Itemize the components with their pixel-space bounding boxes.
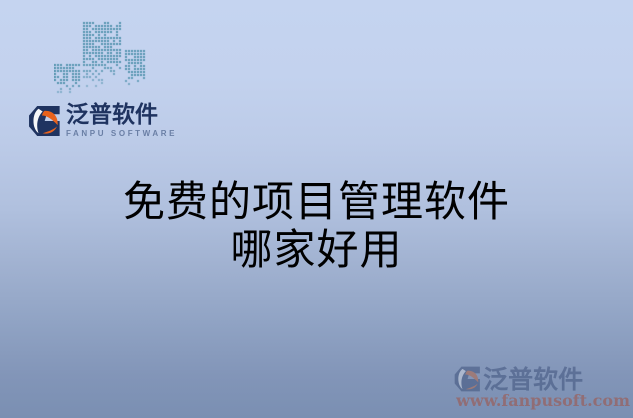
watermark-url: www.fanpusoft.com xyxy=(456,392,630,410)
brand-logo: 泛普软件 FANPU SOFTWARE xyxy=(27,103,177,139)
pixel-mosaic-city-skyline-icon xyxy=(54,20,146,98)
watermark-name-cn: 泛普软件 xyxy=(483,366,583,393)
page-title-line-2: 哪家好用 xyxy=(0,226,633,274)
brand-name-en: FANPU SOFTWARE xyxy=(66,129,177,139)
watermark-logo: 泛普软件 xyxy=(453,365,630,393)
watermark: 泛普软件 www.fanpusoft.com xyxy=(453,365,630,410)
fanpu-hexagon-swoosh-icon xyxy=(453,365,481,393)
fanpu-hexagon-swoosh-icon xyxy=(27,104,61,138)
page-title-line-1: 免费的项目管理软件 xyxy=(0,178,633,226)
brand-text: 泛普软件 FANPU SOFTWARE xyxy=(66,103,177,139)
page-title: 免费的项目管理软件 哪家好用 xyxy=(0,178,633,274)
brand-name-cn: 泛普软件 xyxy=(66,103,177,128)
slide-canvas: 泛普软件 FANPU SOFTWARE 免费的项目管理软件 哪家好用 泛普软件 … xyxy=(0,0,633,418)
